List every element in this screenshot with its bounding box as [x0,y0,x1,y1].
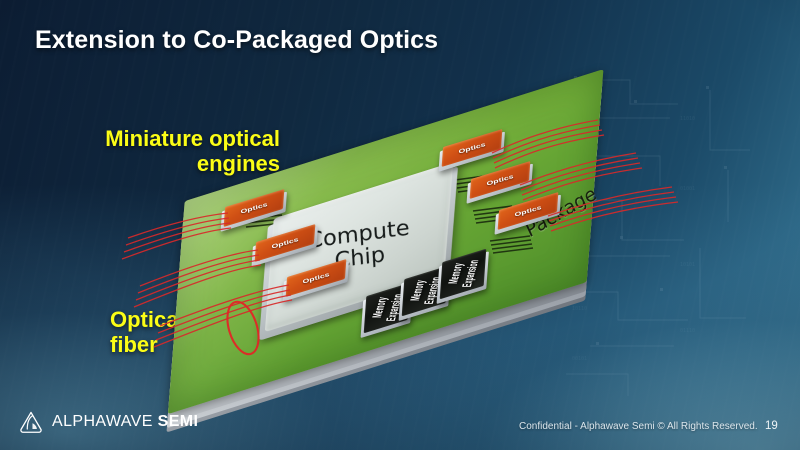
brand-name-alphawave: ALPHAWAVE [52,413,158,430]
svg-text:11010: 11010 [680,116,695,122]
slide-canvas: 011011001000111 110010101010110 00101110… [0,0,800,450]
optics-module-label: Optics [271,236,299,250]
memory-module-3: MemoryExpansion [440,246,486,302]
optics-module-left-3: Optics [285,263,347,293]
svg-text:10101: 10101 [680,262,695,268]
optics-module-left-1: Optics [223,193,285,223]
optics-module-left-2: Optics [254,228,316,258]
optics-module-label: Optics [302,271,330,285]
svg-text:01110: 01110 [680,328,695,334]
footer-confidential-notice: Confidential - Alphawave Semi © All Righ… [519,421,758,432]
page-title: Extension to Co-Packaged Optics [35,26,438,55]
alphawave-triangle-icon [18,409,44,435]
optics-module-right-2: Optics [469,165,531,195]
optics-module-right-1: Optics [441,133,503,163]
brand-name: ALPHAWAVE SEMI [52,413,198,431]
optics-module-label: Optics [458,141,486,155]
optics-module-label: Optics [514,204,542,218]
slide-page-number: 19 [765,420,778,432]
brand-name-semi: SEMI [158,413,199,430]
footer-logo: ALPHAWAVE SEMI [18,409,198,435]
optics-module-label: Optics [240,201,268,215]
optics-module-label: Optics [486,173,514,187]
optics-module-right-3: Optics [497,196,559,226]
memory-module-label: MemoryExpansion [445,260,481,287]
package-diagram: Compute Chip Package Optics Optics Optic… [175,95,675,395]
svg-text:01001: 01001 [680,186,695,192]
